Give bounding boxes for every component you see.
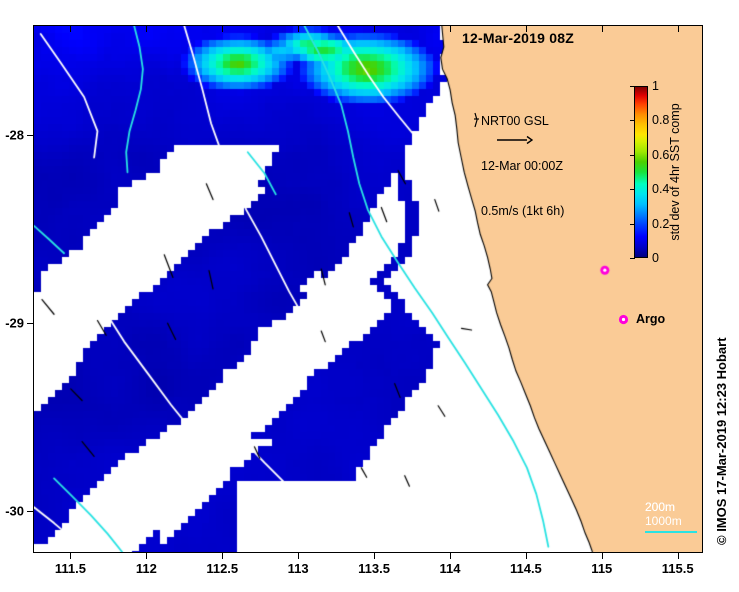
- x-tick: [450, 553, 451, 559]
- y-tick: [27, 511, 33, 512]
- y-tick-label: -28: [5, 127, 24, 142]
- sst-std-dev-heatmap: [34, 26, 702, 552]
- figure-root: 111.5112112.5113113.5114114.5115115.5-28…: [0, 0, 739, 592]
- x-tick-top: [450, 26, 451, 32]
- colorbar-tick: [630, 224, 635, 225]
- x-tick: [374, 553, 375, 559]
- colorbar-tick-label: 0.6: [652, 148, 669, 162]
- colorbar-tick: [630, 189, 635, 190]
- colorbar-tick: [630, 86, 635, 87]
- colorbar-gradient: [634, 86, 648, 258]
- copyright-text: © IMOS 17-Mar-2019 12:23 Hobart: [714, 337, 729, 545]
- x-tick-label: 114: [439, 561, 460, 576]
- x-tick: [70, 553, 71, 559]
- argo-legend-label: Argo: [636, 312, 665, 326]
- x-tick-label: 112.5: [206, 561, 238, 576]
- gsl-source-label: NRT00 GSL: [481, 114, 564, 129]
- x-tick: [678, 553, 679, 559]
- colorbar-tick-label: 0: [652, 251, 659, 265]
- colorbar-tick-label: 1: [652, 79, 659, 93]
- gsl-time-label: 12-Mar 00:00Z: [481, 159, 564, 174]
- argo-marker-icon: [618, 314, 629, 325]
- colorbar-tick: [630, 120, 635, 121]
- page-title: 12-Mar-2019 08Z: [462, 30, 574, 46]
- x-tick-top: [70, 26, 71, 32]
- x-tick-top: [602, 26, 603, 32]
- colorbar-tick-label: 0.2: [652, 217, 669, 231]
- depth-1000m-label: 1000m: [645, 514, 682, 528]
- x-tick-label: 112: [136, 561, 157, 576]
- y-tick: [27, 323, 33, 324]
- x-tick-label: 115.5: [662, 561, 694, 576]
- x-tick-label: 115: [591, 561, 612, 576]
- x-tick-label: 113.5: [358, 561, 390, 576]
- x-tick-top: [374, 26, 375, 32]
- right-arrow-icon: [497, 135, 533, 145]
- bathymetry-legend: 200m 1000m: [645, 500, 682, 528]
- x-tick: [602, 553, 603, 559]
- colorbar-tick: [630, 258, 635, 259]
- colorbar-title: std dev of 4hr SST comp: [668, 103, 682, 240]
- colorbar-tick-label: 0.8: [652, 113, 669, 127]
- x-tick: [222, 553, 223, 559]
- colorbar-tick-label: 0.4: [652, 182, 669, 196]
- depth-1000m-line: [645, 531, 697, 533]
- x-tick: [146, 553, 147, 559]
- y-tick: [27, 135, 33, 136]
- x-tick-label: 114.5: [510, 561, 542, 576]
- x-tick-top: [146, 26, 147, 32]
- x-tick: [526, 553, 527, 559]
- velocity-vector-icon: [473, 112, 483, 128]
- colorbar: 00.20.40.60.81: [634, 86, 648, 258]
- x-tick: [298, 553, 299, 559]
- y-tick-label: -29: [5, 315, 24, 330]
- x-tick-top: [222, 26, 223, 32]
- gsl-annotation: NRT00 GSL 12-Mar 00:00Z 0.5m/s (1kt 6h): [481, 84, 564, 249]
- argo-legend: Argo: [618, 312, 665, 326]
- depth-200m-label: 200m: [645, 500, 682, 514]
- x-tick-top: [678, 26, 679, 32]
- x-tick-top: [298, 26, 299, 32]
- x-tick-label: 113: [288, 561, 309, 576]
- map-plot-area[interactable]: [33, 25, 703, 553]
- colorbar-tick: [630, 155, 635, 156]
- x-tick-label: 111.5: [55, 561, 86, 576]
- gsl-speed-label: 0.5m/s (1kt 6h): [481, 204, 564, 219]
- y-tick-label: -30: [5, 503, 24, 518]
